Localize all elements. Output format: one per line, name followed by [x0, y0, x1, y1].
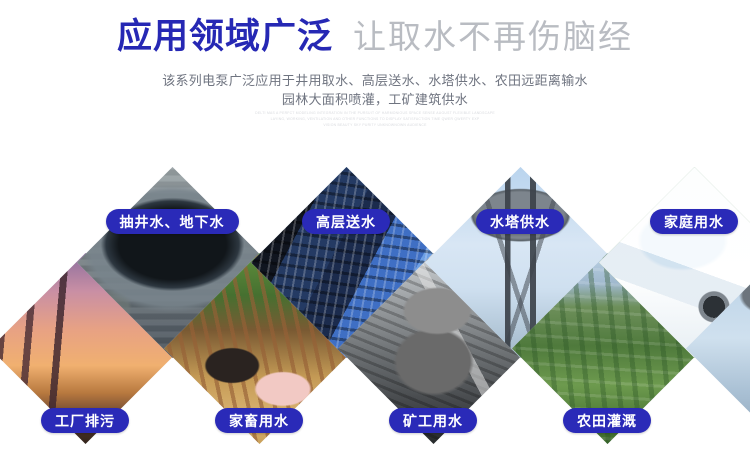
banner-header: 应用领域广泛 让取水不再伤脑经 该系列电泵广泛应用于井用取水、高层送水、水塔供水…	[0, 0, 750, 180]
mosaic-label-city[interactable]: 高层送水	[302, 209, 390, 234]
decorative-microtext: DELTI MAS A PERFCT MODELING INTEGRATION …	[0, 110, 750, 128]
mosaic-label-pig[interactable]: 家畜用水	[215, 408, 303, 433]
description-line-2: 园林大面积喷灌，工矿建筑供水	[0, 91, 750, 110]
mosaic-label-miner[interactable]: 矿工用水	[389, 408, 477, 433]
mosaic-label-tower[interactable]: 水塔供水	[476, 209, 564, 234]
description-block: 该系列电泵广泛应用于井用取水、高层送水、水塔供水、农田远距离输水 园林大面积喷灌…	[0, 72, 750, 110]
headline-secondary: 让取水不再伤脑经	[353, 20, 633, 53]
headline-row: 应用领域广泛 让取水不再伤脑经	[0, 20, 750, 55]
mosaic-label-well[interactable]: 抽井水、地下水	[106, 209, 239, 234]
microtext-line-3: VISION BEAUTY SKY PURITY UNKNOWNOWN AUDI…	[0, 122, 750, 128]
mosaic-label-field[interactable]: 农田灌溉	[563, 408, 651, 433]
promo-banner: 应用领域广泛 让取水不再伤脑经 该系列电泵广泛应用于井用取水、高层送水、水塔供水…	[0, 0, 750, 468]
description-line-1: 该系列电泵广泛应用于井用取水、高层送水、水塔供水、农田远距离输水	[0, 72, 750, 91]
mosaic-label-factory[interactable]: 工厂排污	[41, 408, 129, 433]
mosaic-label-car[interactable]: 家庭用水	[650, 209, 738, 234]
application-diamond-mosaic: 工厂排污抽井水、地下水家畜用水高层送水矿工用水水塔供水农田灌溉家庭用水	[0, 180, 750, 468]
headline-primary: 应用领域广泛	[117, 20, 333, 55]
